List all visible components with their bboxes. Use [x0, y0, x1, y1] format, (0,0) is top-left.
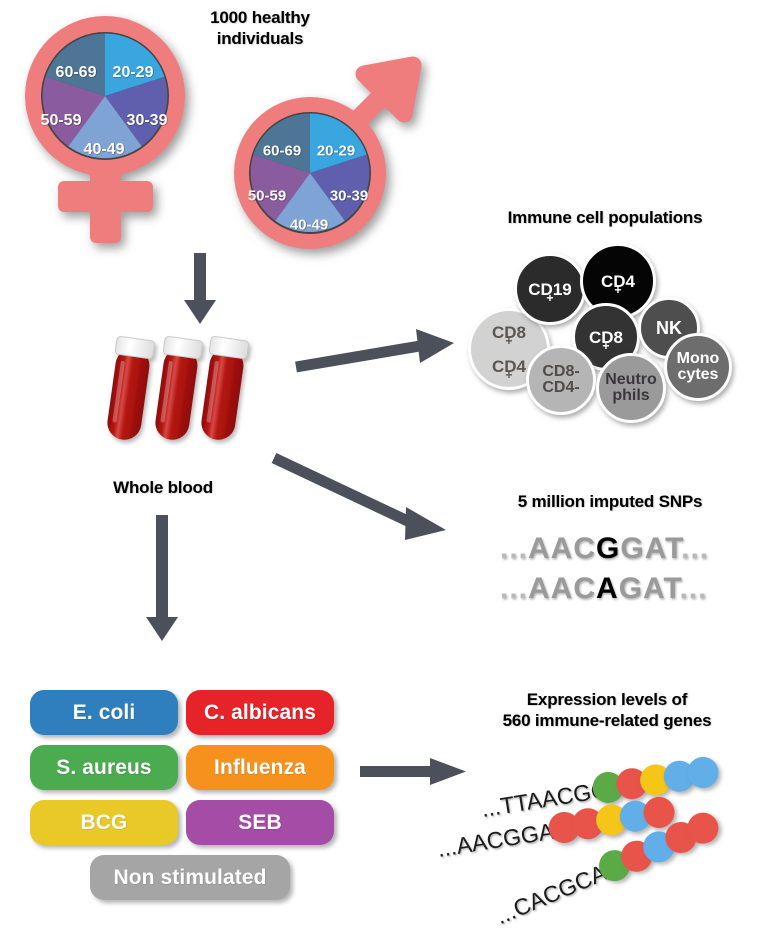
snp-bottom-post: GAT — [619, 572, 680, 605]
arrow-cohort-to-blood — [178, 253, 222, 328]
stimulus-influenza[interactable]: Influenza — [186, 745, 334, 790]
immune-title: Immune cell populations — [450, 208, 760, 229]
snp-bottom-lead: ... — [500, 572, 528, 605]
stimulus-label-e-coli: E. coli — [73, 701, 136, 725]
stimulus-bcg[interactable]: BCG — [30, 800, 178, 845]
blood-tube-1 — [103, 336, 155, 442]
immune-cell-label-cd4p: CD4+ — [601, 273, 635, 290]
immune-cell-cd8n-cd4n: CD8-CD4- — [526, 345, 596, 415]
immune-cell-label-neutrophils: Neutrophils — [605, 372, 657, 404]
snp-bottom-variant: A — [596, 572, 619, 605]
stimulus-label-s-aureus: S. aureus — [56, 756, 151, 780]
stimulus-label-influenza: Influenza — [214, 756, 306, 780]
expression-title-line2: 560 immune-related genes — [448, 711, 766, 732]
stimulus-c-albicans[interactable]: C. albicans — [186, 690, 334, 735]
snp-bottom-pre: AAC — [528, 572, 596, 605]
immune-cell-cd19p: CD19+ — [514, 253, 586, 325]
male-age-pie — [249, 112, 371, 234]
blood-tube-2 — [151, 336, 203, 442]
stimulus-label-non-stimulated: Non stimulated — [113, 866, 266, 890]
stimulus-label-seb: SEB — [238, 811, 281, 835]
female-gender-symbol: 20-29 30-39 40-49 50-59 60-69 — [8, 8, 208, 248]
whole-blood-label: Whole blood — [88, 478, 238, 499]
snp-sequence-top: ...AACGGAT... — [500, 532, 709, 566]
stimulus-label-bcg: BCG — [81, 811, 128, 835]
snp-top-lead: ... — [500, 532, 528, 565]
arrow-blood-to-snps — [272, 452, 452, 552]
snp-sequence-bottom: ...AACAGAT... — [500, 572, 707, 606]
immune-cell-label-nk: NK — [656, 319, 682, 337]
male-gender-symbol: 20-29 30-39 40-49 50-59 60-69 — [205, 55, 435, 265]
snps-title: 5 million imputed SNPs — [460, 492, 760, 513]
blood-tube-3 — [197, 336, 249, 442]
snp-top-variant: G — [596, 532, 620, 565]
immune-cell-label-monocytes: Monocytes — [677, 351, 720, 383]
female-symbol-crossbar — [58, 181, 153, 212]
snp-top-trail: ... — [681, 532, 709, 565]
immune-cell-neutrophils: Neutrophils — [596, 353, 666, 423]
expression-title: Expression levels of 560 immune-related … — [448, 690, 766, 731]
stimulus-s-aureus[interactable]: S. aureus — [30, 745, 178, 790]
stimulus-label-c-albicans: C. albicans — [204, 701, 316, 725]
female-age-pie — [41, 32, 169, 160]
immune-cell-cluster: CD8+CD4+ CD19+ CD4+ CD8+ NK CD8-CD4- Neu… — [460, 235, 760, 425]
arrow-blood-to-stimuli — [140, 515, 184, 645]
blood-tubes-illustration — [98, 330, 258, 455]
stimulus-seb[interactable]: SEB — [186, 800, 334, 845]
arrow-blood-to-immune — [294, 322, 459, 382]
stimulus-non-stimulated[interactable]: Non stimulated — [90, 855, 290, 900]
snp-bottom-trail: ... — [679, 572, 707, 605]
immune-cell-monocytes: Monocytes — [664, 333, 732, 401]
snp-top-post: GAT — [620, 532, 681, 565]
expression-strands: ...TTAACGG ...AACGGAT ...CACGCAA — [440, 740, 771, 922]
expression-title-line1: Expression levels of — [448, 690, 766, 711]
stimulus-e-coli[interactable]: E. coli — [30, 690, 178, 735]
snp-top-pre: AAC — [528, 532, 596, 565]
immune-cell-label-cd8p-cd4p: CD8+CD4+ — [492, 324, 526, 375]
immune-cell-label-cd8n-cd4n: CD8-CD4- — [542, 364, 579, 396]
immune-cell-label-cd19p: CD19+ — [528, 281, 571, 298]
immune-cell-label-cd8p: CD8+ — [589, 329, 623, 346]
